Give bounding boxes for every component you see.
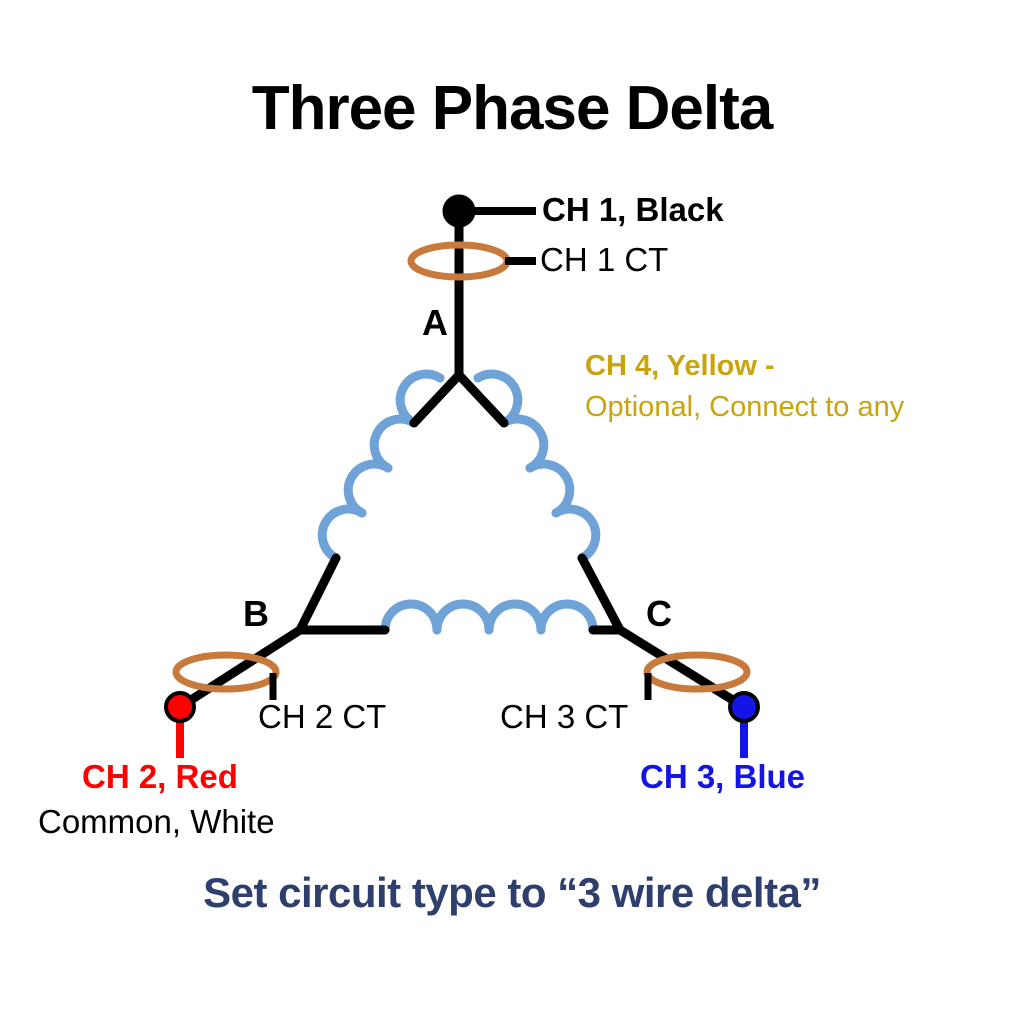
wire-phase-c-drop bbox=[620, 630, 744, 707]
wire-apex-left-leg bbox=[414, 375, 459, 423]
vertex-label-c: C bbox=[646, 596, 672, 632]
ch2-terminal-dot bbox=[166, 693, 194, 721]
diagram-canvas: Three Phase Delta A B C CH 1, Black CH 1… bbox=[0, 0, 1024, 1024]
common-wire-label: Common, White bbox=[38, 805, 275, 838]
ch3-ct-ring bbox=[647, 655, 747, 689]
wire-phase-b-drop bbox=[180, 630, 300, 707]
ch2-ct-ring bbox=[176, 655, 276, 689]
ch2-channel-label: CH 2, Red bbox=[82, 760, 238, 793]
ch1-terminal-dot bbox=[444, 196, 474, 226]
page-title: Three Phase Delta bbox=[0, 78, 1024, 140]
winding-ac bbox=[478, 374, 596, 558]
vertex-label-b: B bbox=[243, 596, 269, 632]
ch4-channel-label: CH 4, Yellow - bbox=[585, 352, 775, 381]
instruction-caption: Set circuit type to “3 wire delta” bbox=[0, 872, 1024, 914]
winding-bc bbox=[385, 604, 593, 630]
winding-ab bbox=[322, 374, 440, 558]
ch3-terminal-dot bbox=[730, 693, 758, 721]
ch3-ct-label: CH 3 CT bbox=[500, 700, 628, 733]
ch1-channel-label: CH 1, Black bbox=[542, 193, 724, 226]
wire-apex-right-leg bbox=[459, 375, 504, 423]
ch4-note-label: Optional, Connect to any bbox=[585, 393, 904, 422]
wire-left-winding-to-b bbox=[300, 558, 336, 630]
vertex-label-a: A bbox=[422, 305, 448, 341]
ch2-ct-label: CH 2 CT bbox=[258, 700, 386, 733]
ch3-channel-label: CH 3, Blue bbox=[640, 760, 805, 793]
ch1-ct-label: CH 1 CT bbox=[540, 243, 668, 276]
